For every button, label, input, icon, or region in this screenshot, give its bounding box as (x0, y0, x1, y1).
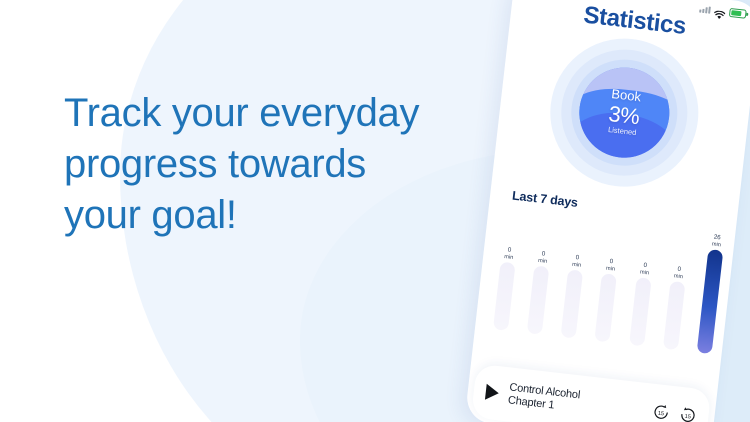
phone-mockup: Statistics Book 3% Listened Last 7 days (464, 0, 750, 422)
bar-value-label: 0min (599, 258, 622, 273)
progress-ring-chart: Book 3% Listened (542, 31, 706, 195)
player-track-info: Control Alcohol Chapter 1 (507, 381, 644, 422)
progress-ring-percent: 3% (607, 102, 640, 128)
bar-column: 0min (561, 220, 589, 339)
bar (527, 265, 550, 334)
forward-15-icon[interactable]: 15 (679, 405, 698, 422)
phone-screen: Statistics Book 3% Listened Last 7 days (464, 0, 750, 422)
section-title-last-7-days: Last 7 days (511, 189, 578, 210)
svg-text:15: 15 (684, 413, 691, 420)
bar-value-label: 0min (497, 246, 520, 261)
bar (595, 273, 618, 342)
progress-ring-labels: Book 3% Listened (542, 31, 706, 195)
bar-value-label: 0min (633, 262, 656, 277)
promo-headline: Track your everyday progress towards you… (64, 88, 464, 241)
bar (663, 281, 686, 350)
battery-icon (729, 7, 747, 18)
bar-column: 26min (697, 235, 725, 354)
bar (697, 249, 724, 354)
bar (493, 262, 516, 331)
bar-value-label: 0min (565, 254, 588, 269)
wifi-icon (714, 6, 726, 16)
signal-bars-icon (699, 5, 711, 13)
bar-value-label: 26min (705, 234, 728, 249)
bar-column: 0min (629, 227, 657, 346)
play-icon[interactable] (485, 384, 500, 401)
bar (561, 269, 584, 338)
bar-column: 0min (595, 224, 623, 343)
audio-player-bar[interactable]: Control Alcohol Chapter 1 15 15 (471, 364, 712, 422)
bar-column: 0min (663, 231, 691, 350)
bar (629, 277, 652, 346)
svg-text:15: 15 (658, 410, 665, 417)
bar-value-label: 0min (667, 266, 690, 281)
rewind-15-icon[interactable]: 15 (652, 402, 671, 421)
bar-chart-bars: 0min0min0min0min0min0min26min (493, 212, 725, 354)
progress-ring-sublabel: Listened (608, 125, 637, 138)
bar-column: 0min (527, 216, 555, 335)
weekly-bar-chart: 0min0min0min0min0min0min26min (491, 212, 725, 368)
bar-value-label: 0min (531, 250, 554, 265)
promo-banner: Track your everyday progress towards you… (0, 0, 750, 422)
bar-column: 0min (493, 212, 521, 331)
